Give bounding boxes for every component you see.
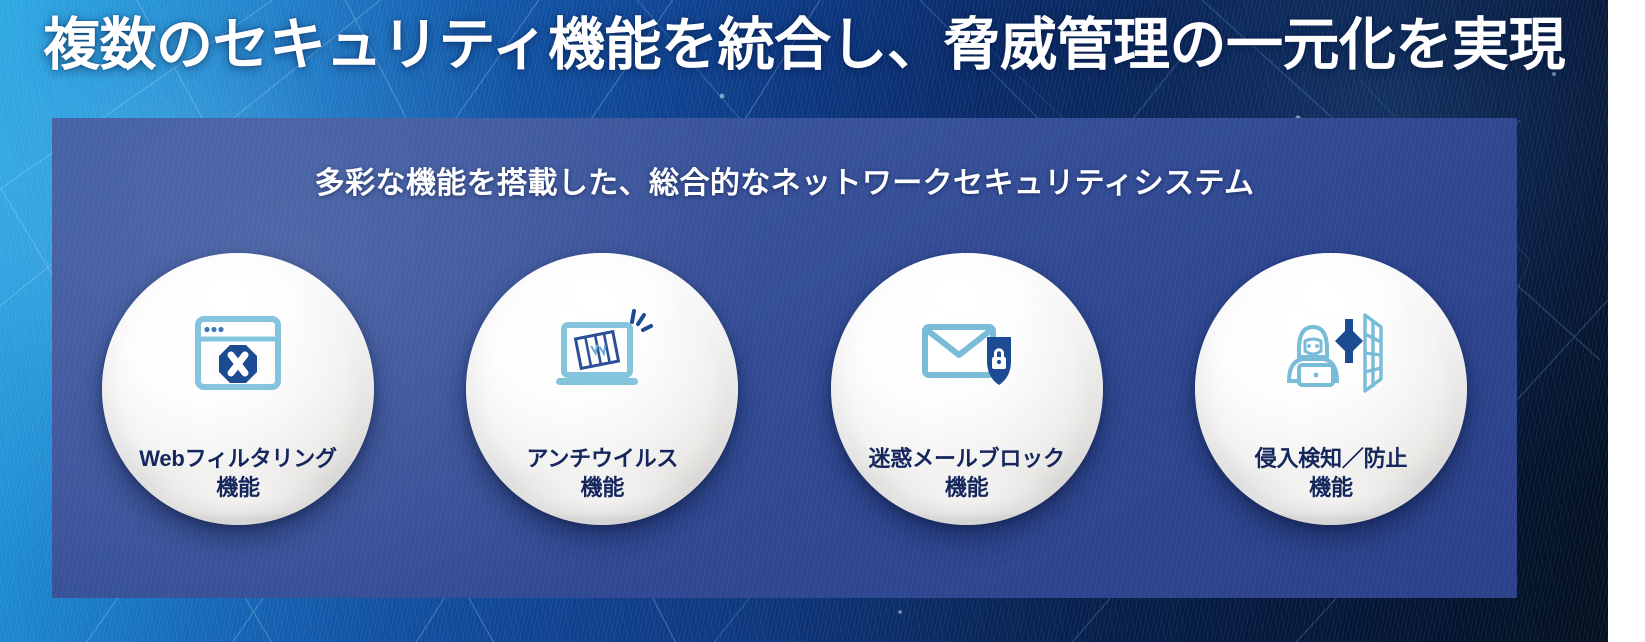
features-panel: 多彩な機能を搭載した、総合的なネットワークセキュリティシステム: [52, 118, 1517, 598]
feature-card-antivirus[interactable]: アンチウイルス 機能: [466, 253, 738, 525]
feature-card-spam-block[interactable]: 迷惑メールブロック 機能: [831, 253, 1103, 525]
feature-label-line1: 侵入検知／防止: [1255, 446, 1408, 471]
feature-label-line1: アンチウイルス: [526, 446, 678, 471]
feature-card-intrusion-detection[interactable]: 侵入検知／防止 機能: [1195, 253, 1467, 525]
slide-stage: 複数のセキュリティ機能を統合し、脅威管理の一元化を実現 多彩な機能を搭載した、総…: [0, 0, 1645, 642]
feature-label-line2: 機能: [842, 473, 1092, 502]
feature-label-line2: 機能: [113, 473, 363, 502]
mail-shield-lock-icon: [915, 305, 1019, 401]
feature-label: 迷惑メールブロック 機能: [842, 415, 1092, 525]
feature-label-line1: Webフィルタリング: [139, 446, 337, 471]
feature-label-line2: 機能: [477, 473, 727, 502]
feature-card-web-filtering[interactable]: Webフィルタリング 機能: [102, 253, 374, 525]
feature-label: Webフィルタリング 機能: [113, 415, 363, 525]
feature-circle-row: Webフィルタリング 機能: [102, 253, 1467, 543]
laptop-virus-alert-icon: [550, 305, 654, 401]
feature-label-line2: 機能: [1206, 473, 1456, 502]
panel-subtitle: 多彩な機能を搭載した、総合的なネットワークセキュリティシステム: [52, 158, 1517, 202]
feature-label: 侵入検知／防止 機能: [1206, 415, 1456, 525]
feature-label: アンチウイルス 機能: [477, 415, 727, 525]
hacker-firewall-icon: [1279, 305, 1383, 401]
feature-label-line1: 迷惑メールブロック: [869, 446, 1065, 471]
browser-blocked-icon: [186, 305, 290, 401]
right-white-margin: [1608, 0, 1645, 642]
page-title: 複数のセキュリティ機能を統合し、脅威管理の一元化を実現: [0, 8, 1608, 83]
